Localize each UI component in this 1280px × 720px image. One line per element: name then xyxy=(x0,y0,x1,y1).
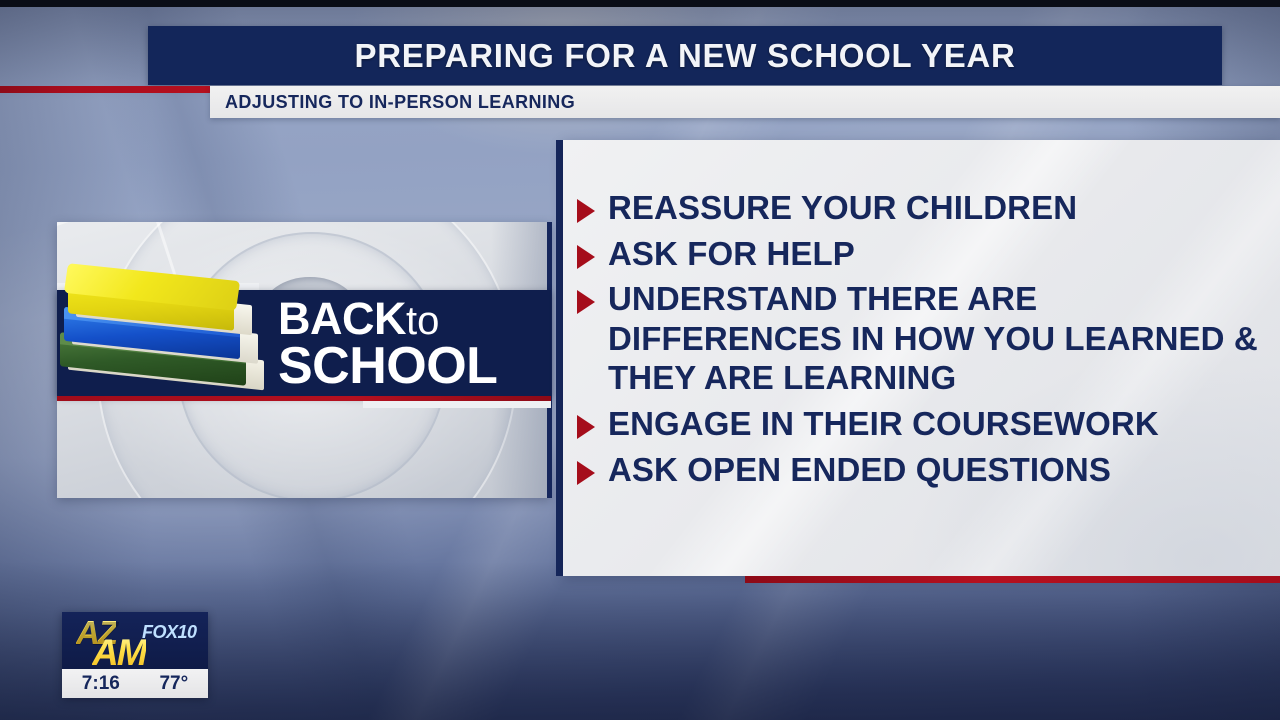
temperature-readout: 77° xyxy=(159,673,188,695)
content-panel-border xyxy=(556,140,563,576)
back-to-school-title: BACKto SCHOOL xyxy=(278,292,550,396)
triangle-bullet-icon xyxy=(577,290,595,314)
bullet-row: ASK FOR HELP xyxy=(577,234,1270,274)
bullet-text: REASSURE YOUR CHILDREN xyxy=(608,188,1077,228)
content-panel-red-accent xyxy=(745,576,1280,583)
headline-red-accent xyxy=(0,86,210,93)
station-bug: AZ AM FOX10 7:16 77° xyxy=(62,612,208,698)
back-to-school-line-1: BACKto xyxy=(278,297,550,341)
content-panel: REASSURE YOUR CHILDRENASK FOR HELPUNDERS… xyxy=(563,140,1280,576)
headline-text: PREPARING FOR A NEW SCHOOL YEAR xyxy=(355,37,1016,75)
letterbox-bar xyxy=(0,0,1280,7)
subheadline-text: ADJUSTING TO IN-PERSON LEARNING xyxy=(210,92,575,113)
triangle-bullet-icon xyxy=(577,199,595,223)
bullet-text: UNDERSTAND THERE ARE DIFFERENCES IN HOW … xyxy=(608,279,1270,398)
bullet-text: ASK FOR HELP xyxy=(608,234,855,274)
bullet-row: UNDERSTAND THERE ARE DIFFERENCES IN HOW … xyxy=(577,279,1270,398)
bullet-row: ENGAGE IN THEIR COURSEWORK xyxy=(577,404,1270,444)
bullet-text: ASK OPEN ENDED QUESTIONS xyxy=(608,450,1111,490)
tips-bullet-list: REASSURE YOUR CHILDRENASK FOR HELPUNDERS… xyxy=(577,188,1270,489)
station-logo: AZ AM FOX10 xyxy=(62,612,208,669)
bullet-row: ASK OPEN ENDED QUESTIONS xyxy=(577,450,1270,490)
headline-bar: PREPARING FOR A NEW SCHOOL YEAR xyxy=(148,26,1222,85)
back-to-school-line-2: SCHOOL xyxy=(278,341,550,391)
subheadline-bar: ADJUSTING TO IN-PERSON LEARNING xyxy=(210,86,1280,118)
network-label: FOX10 xyxy=(142,622,197,643)
clock-time: 7:16 xyxy=(82,673,120,695)
book-stack-icon xyxy=(60,272,290,402)
broadcast-frame: PREPARING FOR A NEW SCHOOL YEAR ADJUSTIN… xyxy=(0,0,1280,720)
bullet-row: REASSURE YOUR CHILDREN xyxy=(577,188,1270,228)
graphic-white-tab-bottom xyxy=(363,401,551,408)
bullet-text: ENGAGE IN THEIR COURSEWORK xyxy=(608,404,1159,444)
triangle-bullet-icon xyxy=(577,461,595,485)
station-info-bar: 7:16 77° xyxy=(62,669,208,698)
triangle-bullet-icon xyxy=(577,415,595,439)
station-call-am: AM xyxy=(92,632,146,669)
triangle-bullet-icon xyxy=(577,245,595,269)
